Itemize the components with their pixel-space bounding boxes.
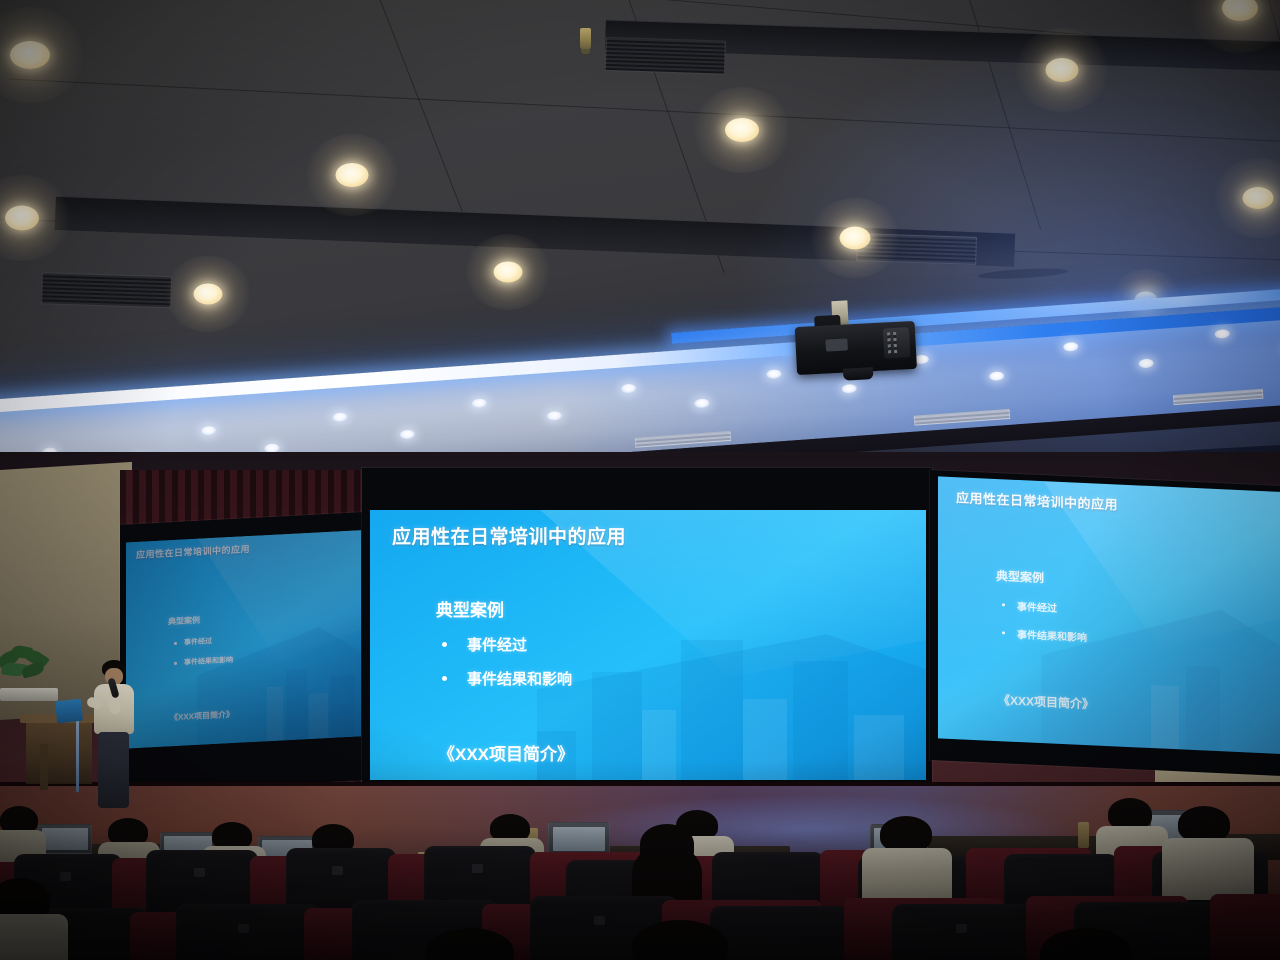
projector-icon <box>795 319 918 383</box>
seat[interactable] <box>1210 894 1280 960</box>
podium-leg <box>40 744 48 790</box>
bullet-dot-icon <box>1002 631 1005 634</box>
ceiling-vent-icon <box>856 233 977 265</box>
bullet-dot-icon <box>1002 603 1005 606</box>
seat[interactable] <box>176 904 320 960</box>
center-screen[interactable]: 应用性在日常培训中的应用 典型案例 事件经过 事件结果和影响 《XXX项目简介》 <box>362 468 932 786</box>
seat[interactable] <box>710 906 860 960</box>
bullet-dot-icon <box>442 676 447 681</box>
planter <box>0 688 58 701</box>
center-slide-bullet: 事件结果和影响 <box>442 668 572 689</box>
sprinkler-icon <box>580 28 591 50</box>
plant-icon <box>0 646 58 690</box>
center-slide-footer: 《XXX项目简介》 <box>438 740 574 765</box>
podium-monitor-icon <box>55 699 83 724</box>
right-slide-bullet: 事件结果和影响 <box>1002 625 1087 644</box>
center-slide: 应用性在日常培训中的应用 典型案例 事件经过 事件结果和影响 《XXX项目简介》 <box>370 510 926 780</box>
bullet-dot-icon <box>442 642 447 647</box>
right-slide-heading: 典型案例 <box>996 567 1044 586</box>
right-screen[interactable]: 应用性在日常培训中的应用 典型案例 事件经过 事件结果和影响 《XXX项目简介》 <box>930 470 1280 776</box>
left-screen[interactable]: 应用性在日常培训中的应用 典型案例 事件经过 事件结果和影响 《XXX项目简介》 <box>120 512 365 793</box>
left-slide-heading: 典型案例 <box>168 615 200 628</box>
presenter <box>86 660 146 810</box>
cup <box>1078 822 1089 848</box>
right-slide-bullet: 事件经过 <box>1002 597 1057 614</box>
bullet-dot-icon <box>174 661 177 664</box>
right-slide-footer: 《XXX项目简介》 <box>998 691 1094 712</box>
seat[interactable] <box>892 904 1042 960</box>
center-slide-heading: 典型案例 <box>436 596 504 621</box>
conference-hall-photo: 应用性在日常培训中的应用 典型案例 事件经过 事件结果和影响 《XXX项目简介》 <box>0 0 1280 960</box>
ceiling-vent-icon <box>41 272 172 308</box>
laptop-icon <box>548 822 610 856</box>
bullet-dot-icon <box>174 641 177 644</box>
left-slide-bullet: 事件经过 <box>174 636 212 648</box>
audience-area <box>0 800 1280 960</box>
podium <box>26 720 92 784</box>
center-slide-title: 应用性在日常培训中的应用 <box>392 522 926 549</box>
laptop-icon <box>38 824 92 854</box>
ceiling-vent-icon <box>605 37 726 75</box>
center-slide-bullet: 事件经过 <box>442 634 527 655</box>
